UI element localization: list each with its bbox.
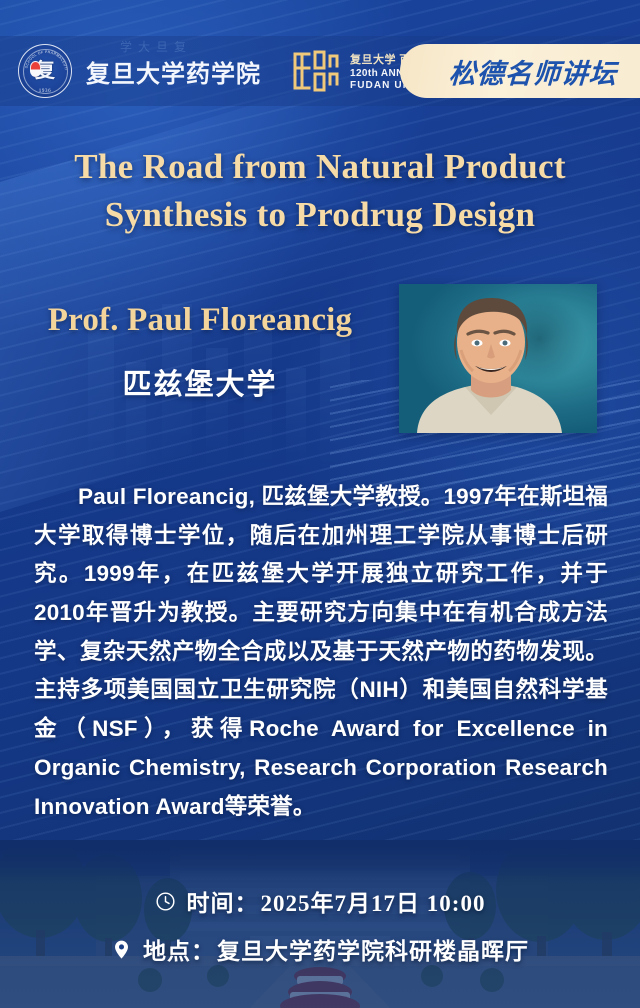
event-info-block: 时间： 2025年7月17日 10:00 地点： 复旦大学药学院科研楼晶晖厅 xyxy=(0,884,640,966)
forum-banner: 松德名师讲坛 xyxy=(400,44,640,98)
event-location-value: 复旦大学药学院科研楼晶晖厅 xyxy=(217,932,529,966)
poster-header: 学大旦复 SCHOOL OF PHARMACEUTICAL SCIENCES F… xyxy=(0,36,640,106)
title-line-2: Synthesis to Prodrug Design xyxy=(0,191,640,239)
speaker-block: Prof. Paul Floreancig 匹兹堡大学 xyxy=(0,302,400,403)
campus-top-fade xyxy=(0,840,640,882)
speaker-affiliation: 匹兹堡大学 xyxy=(0,361,400,403)
portrait-figure xyxy=(399,284,597,433)
event-location-row: 地点： 复旦大学药学院科研楼晶晖厅 xyxy=(111,932,529,966)
speaker-portrait-photo xyxy=(399,284,597,433)
anniversary-seal-icon xyxy=(291,48,341,94)
background-diagonal-wedge xyxy=(0,60,400,531)
school-name-label: 复旦大学药学院 xyxy=(86,54,261,89)
seal-year: 1936 xyxy=(19,89,71,94)
event-time-row: 时间： 2025年7月17日 10:00 xyxy=(155,884,486,918)
seal-capsule-icon xyxy=(30,61,41,77)
title-line-1: The Road from Natural Product xyxy=(0,143,640,191)
event-time-value: 2025年7月17日 10:00 xyxy=(261,884,486,918)
school-seal-logo: SCHOOL OF PHARMACEUTICAL SCIENCES FUDAN … xyxy=(18,44,72,98)
poster-root: 学大旦复 SCHOOL OF PHARMACEUTICAL SCIENCES F… xyxy=(0,0,640,1008)
event-location-label: 地点： xyxy=(143,932,215,966)
event-time-label: 时间： xyxy=(187,884,259,918)
map-pin-icon xyxy=(111,939,132,960)
header-ghost-text: 学大旦复 xyxy=(120,38,192,55)
speaker-bio-text: Paul Floreancig, 匹兹堡大学教授。1997年在斯坦福大学取得博士… xyxy=(34,478,608,826)
page-title: The Road from Natural Product Synthesis … xyxy=(0,143,640,240)
forum-banner-label: 松德名师讲坛 xyxy=(448,52,618,91)
speaker-name: Prof. Paul Floreancig xyxy=(0,302,400,339)
clock-icon xyxy=(155,891,176,912)
